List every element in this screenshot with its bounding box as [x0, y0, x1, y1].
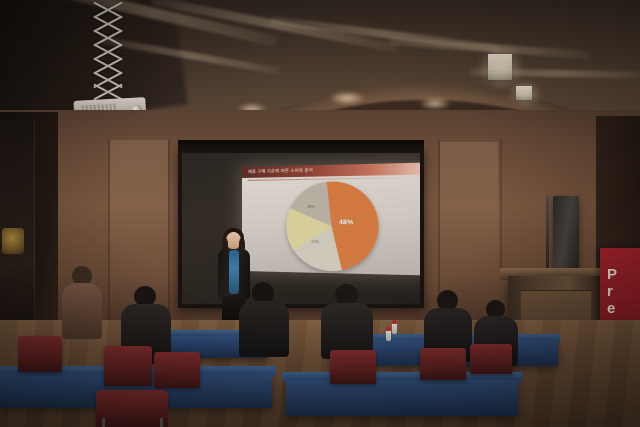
microphone-stand: [546, 196, 549, 272]
cove-light: [420, 98, 450, 109]
spotlight-glow: [478, 48, 524, 88]
cove-light: [330, 92, 364, 104]
chair[interactable]: [104, 346, 152, 386]
seminar-room-photo: 제품 구매 기준에 따른 소비자 분석 48% 22% 16% P r e: [0, 0, 640, 427]
slide-divider: [248, 177, 408, 181]
attendee-4: [320, 284, 374, 356]
chair-front[interactable]: [96, 390, 168, 427]
pie-chart: 48% 22% 16%: [286, 181, 378, 272]
chair[interactable]: [154, 352, 200, 388]
projected-slide: 제품 구매 기준에 따른 소비자 분석 48% 22% 16%: [242, 163, 420, 276]
attendee-body: [239, 301, 289, 357]
chair-leg: [102, 418, 105, 427]
scissor-lift-mount: [86, 0, 126, 100]
spotlight-glow: [508, 82, 542, 106]
water-bottle: [392, 320, 397, 334]
wall-seam: [500, 140, 502, 280]
wall-panel: [440, 142, 498, 292]
water-bottle: [386, 327, 391, 341]
chair[interactable]: [420, 348, 466, 380]
chair-leg: [160, 418, 163, 427]
banner-line-2: r: [607, 283, 617, 300]
pie-slice-label-1: 48%: [339, 219, 353, 226]
chair[interactable]: [470, 344, 512, 374]
banner-line-1: P: [607, 266, 617, 283]
attendee-body: [62, 283, 102, 339]
pie-slice-label-2: 22%: [311, 240, 319, 244]
chair[interactable]: [18, 336, 62, 372]
attendee-1: [60, 266, 104, 338]
chair[interactable]: [330, 350, 376, 384]
pie-slice-label-3: 16%: [307, 205, 315, 209]
wall-emblem-icon: [2, 228, 24, 254]
attendee-3: [238, 282, 290, 354]
side-door[interactable]: [0, 120, 35, 325]
banner-line-3: e: [607, 300, 617, 317]
banner-text: P r e: [607, 266, 617, 317]
pie-chart-slices: [286, 181, 378, 272]
conference-table: [286, 380, 518, 416]
